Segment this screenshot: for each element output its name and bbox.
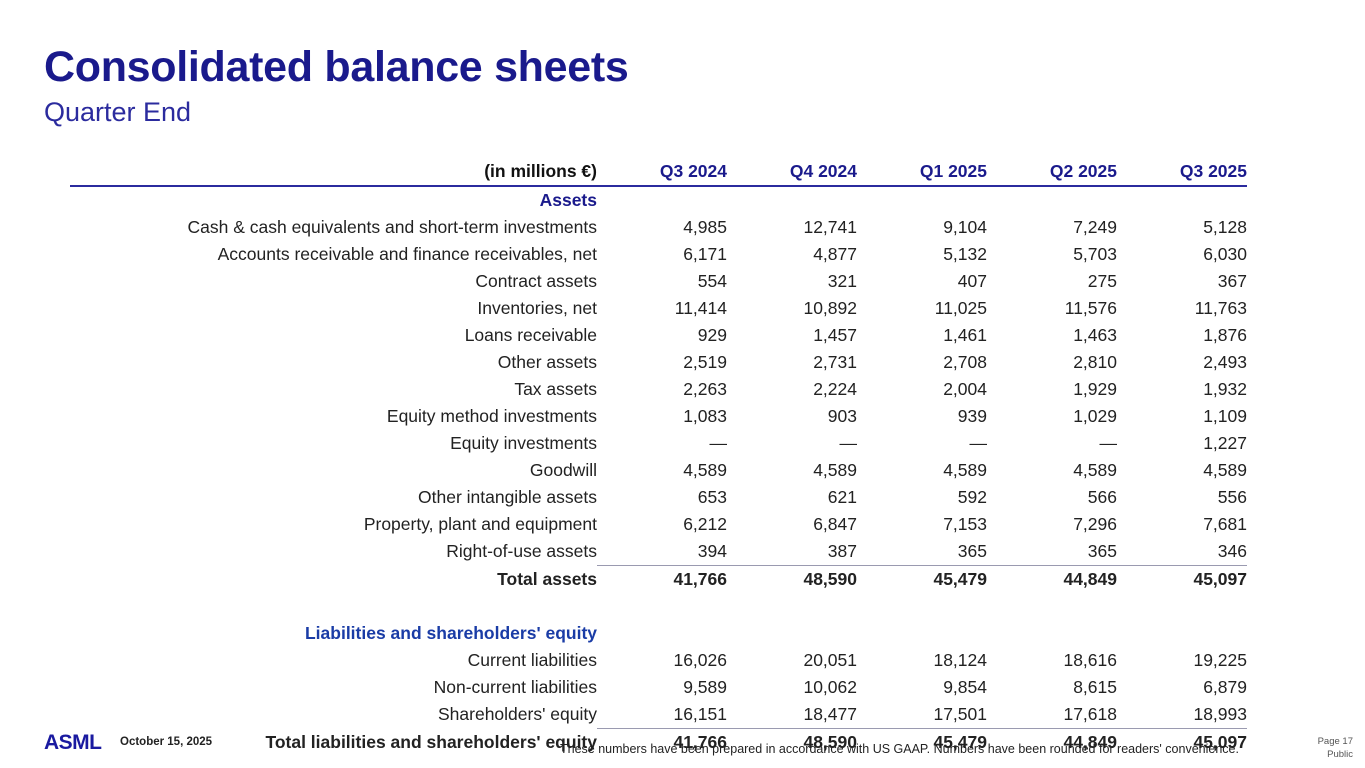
cell-value: 11,763: [1117, 295, 1247, 322]
cell-value: 653: [597, 484, 727, 511]
cell-value: 11,576: [987, 295, 1117, 322]
cell-value: 1,932: [1117, 376, 1247, 403]
cell-value: —: [987, 430, 1117, 457]
cell-value: 4,589: [1117, 457, 1247, 484]
cell-value: 2,519: [597, 349, 727, 376]
asml-logo: ASML: [44, 731, 102, 755]
page-number: Page 17: [1318, 735, 1353, 748]
cell-value: 2,224: [727, 376, 857, 403]
cell-value: 17,501: [857, 701, 987, 729]
column-header-q3-2025: Q3 2025: [1117, 158, 1247, 186]
cell-value: 394: [597, 538, 727, 566]
table-row: Shareholders' equity16,15118,47717,50117…: [70, 701, 1247, 729]
cell-value: 5,703: [987, 241, 1117, 268]
cell-value: 20,051: [727, 647, 857, 674]
section-heading: Liabilities and shareholders' equity: [70, 620, 597, 647]
cell-value: 1,461: [857, 322, 987, 349]
page-subtitle: Quarter End: [44, 99, 629, 126]
cell-value: 1,929: [987, 376, 1117, 403]
row-label: Loans receivable: [70, 322, 597, 349]
row-label: Other intangible assets: [70, 484, 597, 511]
cell-value: 9,104: [857, 214, 987, 241]
cell-value: 6,879: [1117, 674, 1247, 701]
table-body: AssetsCash & cash equivalents and short-…: [70, 186, 1247, 756]
cell-value: 929: [597, 322, 727, 349]
cell-value: 1,457: [727, 322, 857, 349]
table-row: Other intangible assets653621592566556: [70, 484, 1247, 511]
cell-value: 9,589: [597, 674, 727, 701]
footer-disclaimer: These numbers have been prepared in acco…: [560, 742, 1239, 756]
table-row: Equity method investments1,0839039391,02…: [70, 403, 1247, 430]
cell-value: 1,083: [597, 403, 727, 430]
cell-value: 387: [727, 538, 857, 566]
cell-value: 16,026: [597, 647, 727, 674]
row-label: Contract assets: [70, 268, 597, 295]
row-label: Tax assets: [70, 376, 597, 403]
table-row: Property, plant and equipment6,2126,8477…: [70, 511, 1247, 538]
cell-value: 1,029: [987, 403, 1117, 430]
table-row: Inventories, net11,41410,89211,02511,576…: [70, 295, 1247, 322]
table-row: Tax assets2,2632,2242,0041,9291,932: [70, 376, 1247, 403]
cell-value: 7,249: [987, 214, 1117, 241]
cell-value: 17,618: [987, 701, 1117, 729]
table-total-row: Total assets41,76648,59045,47944,84945,0…: [70, 566, 1247, 594]
cell-value: 18,616: [987, 647, 1117, 674]
cell-value: 9,854: [857, 674, 987, 701]
cell-value: 1,463: [987, 322, 1117, 349]
total-value: 44,849: [987, 566, 1117, 594]
cell-value: 275: [987, 268, 1117, 295]
cell-value: 10,892: [727, 295, 857, 322]
total-value: 41,766: [597, 566, 727, 594]
cell-value: 2,263: [597, 376, 727, 403]
row-label: Cash & cash equivalents and short-term i…: [70, 214, 597, 241]
cell-value: 621: [727, 484, 857, 511]
cell-value: 365: [857, 538, 987, 566]
balance-sheet-table: (in millions €) Q3 2024 Q4 2024 Q1 2025 …: [70, 158, 1247, 756]
page-title: Consolidated balance sheets: [44, 46, 629, 90]
total-value: 48,590: [727, 566, 857, 594]
cell-value: 6,212: [597, 511, 727, 538]
cell-value: 939: [857, 403, 987, 430]
cell-value: 407: [857, 268, 987, 295]
cell-value: 19,225: [1117, 647, 1247, 674]
table-row: Non-current liabilities9,58910,0629,8548…: [70, 674, 1247, 701]
cell-value: 18,124: [857, 647, 987, 674]
cell-value: 365: [987, 538, 1117, 566]
cell-value: 5,132: [857, 241, 987, 268]
footer-meta: Page 17 Public: [1318, 735, 1353, 761]
cell-value: 10,062: [727, 674, 857, 701]
unit-label: (in millions €): [70, 158, 597, 186]
table-header: (in millions €) Q3 2024 Q4 2024 Q1 2025 …: [70, 158, 1247, 186]
row-label: Current liabilities: [70, 647, 597, 674]
total-value: 45,097: [1117, 566, 1247, 594]
column-header-q1-2025: Q1 2025: [857, 158, 987, 186]
cell-value: 566: [987, 484, 1117, 511]
cell-value: 556: [1117, 484, 1247, 511]
cell-value: 346: [1117, 538, 1247, 566]
cell-value: 1,227: [1117, 430, 1247, 457]
row-label: Inventories, net: [70, 295, 597, 322]
section-heading-row: Liabilities and shareholders' equity: [70, 620, 1247, 647]
cell-value: 2,731: [727, 349, 857, 376]
footer-date: October 15, 2025: [120, 736, 212, 748]
table-row: Equity investments————1,227: [70, 430, 1247, 457]
table-row: Contract assets554321407275367: [70, 268, 1247, 295]
cell-value: 16,151: [597, 701, 727, 729]
cell-value: 1,109: [1117, 403, 1247, 430]
row-label: Right-of-use assets: [70, 538, 597, 566]
cell-value: 4,877: [727, 241, 857, 268]
cell-value: 18,993: [1117, 701, 1247, 729]
cell-value: 12,741: [727, 214, 857, 241]
cell-value: 11,025: [857, 295, 987, 322]
table-row: Current liabilities16,02620,05118,12418,…: [70, 647, 1247, 674]
cell-value: 2,004: [857, 376, 987, 403]
cell-value: 4,589: [987, 457, 1117, 484]
table-row: Right-of-use assets394387365365346: [70, 538, 1247, 566]
table-row: Other assets2,5192,7312,7082,8102,493: [70, 349, 1247, 376]
cell-value: —: [597, 430, 727, 457]
cell-value: 7,296: [987, 511, 1117, 538]
row-label: Property, plant and equipment: [70, 511, 597, 538]
cell-value: —: [857, 430, 987, 457]
cell-value: 2,493: [1117, 349, 1247, 376]
row-label: Accounts receivable and finance receivab…: [70, 241, 597, 268]
cell-value: 4,589: [857, 457, 987, 484]
total-value: 45,479: [857, 566, 987, 594]
row-label: Shareholders' equity: [70, 701, 597, 729]
cell-value: 321: [727, 268, 857, 295]
classification-label: Public: [1318, 748, 1353, 761]
cell-value: 903: [727, 403, 857, 430]
row-label: Equity investments: [70, 430, 597, 457]
cell-value: 4,589: [597, 457, 727, 484]
column-header-q3-2024: Q3 2024: [597, 158, 727, 186]
cell-value: 6,171: [597, 241, 727, 268]
cell-value: 1,876: [1117, 322, 1247, 349]
cell-value: 554: [597, 268, 727, 295]
table-row: Accounts receivable and finance receivab…: [70, 241, 1247, 268]
cell-value: 7,153: [857, 511, 987, 538]
cell-value: 367: [1117, 268, 1247, 295]
cell-value: 5,128: [1117, 214, 1247, 241]
section-heading-row: Assets: [70, 186, 1247, 214]
row-label: Non-current liabilities: [70, 674, 597, 701]
cell-value: 6,847: [727, 511, 857, 538]
title-block: Consolidated balance sheets Quarter End: [44, 46, 629, 126]
cell-value: 6,030: [1117, 241, 1247, 268]
cell-value: —: [727, 430, 857, 457]
column-header-q4-2024: Q4 2024: [727, 158, 857, 186]
total-label: Total assets: [70, 566, 597, 594]
cell-value: 11,414: [597, 295, 727, 322]
column-header-q2-2025: Q2 2025: [987, 158, 1117, 186]
cell-value: 4,985: [597, 214, 727, 241]
row-label: Goodwill: [70, 457, 597, 484]
row-label: Equity method investments: [70, 403, 597, 430]
cell-value: 2,810: [987, 349, 1117, 376]
cell-value: 2,708: [857, 349, 987, 376]
cell-value: 8,615: [987, 674, 1117, 701]
table-row: Goodwill4,5894,5894,5894,5894,589: [70, 457, 1247, 484]
table-row: Loans receivable9291,4571,4611,4631,876: [70, 322, 1247, 349]
cell-value: 592: [857, 484, 987, 511]
table-spacer-row: [70, 593, 1247, 620]
cell-value: 7,681: [1117, 511, 1247, 538]
table-row: Cash & cash equivalents and short-term i…: [70, 214, 1247, 241]
row-label: Other assets: [70, 349, 597, 376]
section-heading: Assets: [70, 186, 597, 214]
cell-value: 4,589: [727, 457, 857, 484]
cell-value: 18,477: [727, 701, 857, 729]
